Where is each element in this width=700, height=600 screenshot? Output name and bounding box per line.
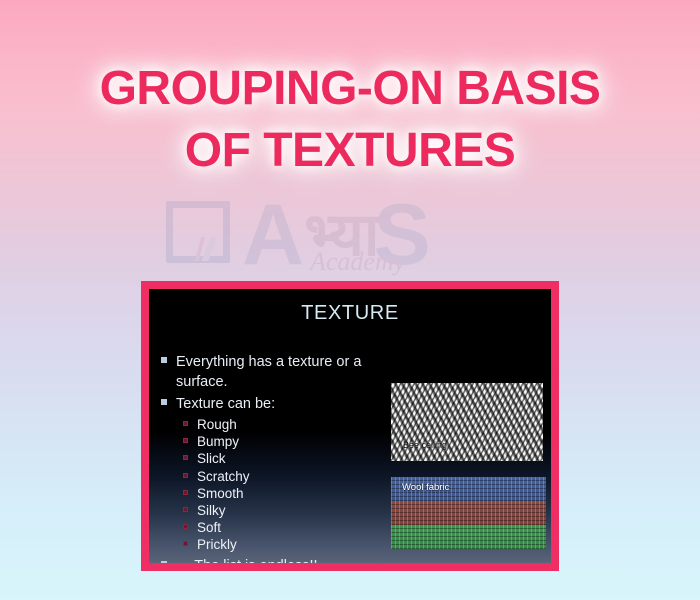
list-item-label: Prickly [197,536,237,553]
list-item-label: Soft [197,519,221,536]
list-item: Prickly [183,536,411,553]
small-square-bullet-icon [183,421,188,426]
list-item: Texture can be: [161,394,411,414]
slide-sub-bullet-list: Rough Bumpy Slick Scratchy [161,416,411,554]
list-item: Smooth [183,485,411,502]
small-square-bullet-icon [183,490,188,495]
list-item-label: Scratchy [197,468,250,485]
small-square-bullet-icon [183,524,188,529]
list-item: Soft [183,519,411,536]
open-book-icon [160,199,238,271]
wool-band-red [391,501,546,525]
page-title: GROUPING-ON BASIS OF TEXTURES [0,58,700,182]
watermark-letter-a: A [242,200,302,271]
wool-band-green [391,525,546,549]
list-item: … The list is endless!! [161,556,411,563]
bee-ceiling-texture-image: Bee ceiling [391,383,543,461]
list-item-label: Everything has a texture or a surface. [176,352,411,392]
list-item: Scratchy [183,468,411,485]
list-item-label: Bumpy [197,433,239,450]
list-item-label: Texture can be: [176,394,275,414]
wool-fabric-texture-image: Wool fabric [391,477,546,549]
book-cover-shape [166,201,230,263]
bee-ceiling-caption: Bee ceiling [403,440,447,450]
square-bullet-icon [161,357,167,363]
watermark-letter-s: S [373,200,430,271]
small-square-bullet-icon [183,455,188,460]
small-square-bullet-icon [183,473,188,478]
slide-frame: TEXTURE Everything has a texture or a su… [141,281,559,571]
list-item: Slick [183,450,411,467]
list-item: Bumpy [183,433,411,450]
small-square-bullet-icon [183,541,188,546]
square-bullet-icon [161,399,167,405]
list-item: Silky [183,502,411,519]
list-item-label: Rough [197,416,237,433]
list-item-label: … The list is endless!! [176,556,318,563]
watermark-hindi-text: भ्या [304,210,379,261]
wool-fabric-caption: Wool fabric [402,482,449,493]
poster-canvas: A भ्या S Academy GROUPING-ON BASIS OF TE… [0,0,700,600]
list-item: Rough [183,416,411,433]
small-square-bullet-icon [183,438,188,443]
slide-title: TEXTURE [149,302,551,325]
square-bullet-icon [161,561,167,563]
book-pages-shape [170,237,228,261]
slide-canvas: TEXTURE Everything has a texture or a su… [149,289,551,563]
list-item: Everything has a texture or a surface. [161,352,411,392]
list-item-label: Smooth [197,485,244,502]
watermark-subtitle: Academy [310,247,405,277]
watermark: A भ्या S Academy [160,185,560,285]
list-item-label: Slick [197,450,226,467]
small-square-bullet-icon [183,507,188,512]
list-item-label: Silky [197,502,226,519]
slide-bullet-list: Everything has a texture or a surface. T… [161,352,411,563]
